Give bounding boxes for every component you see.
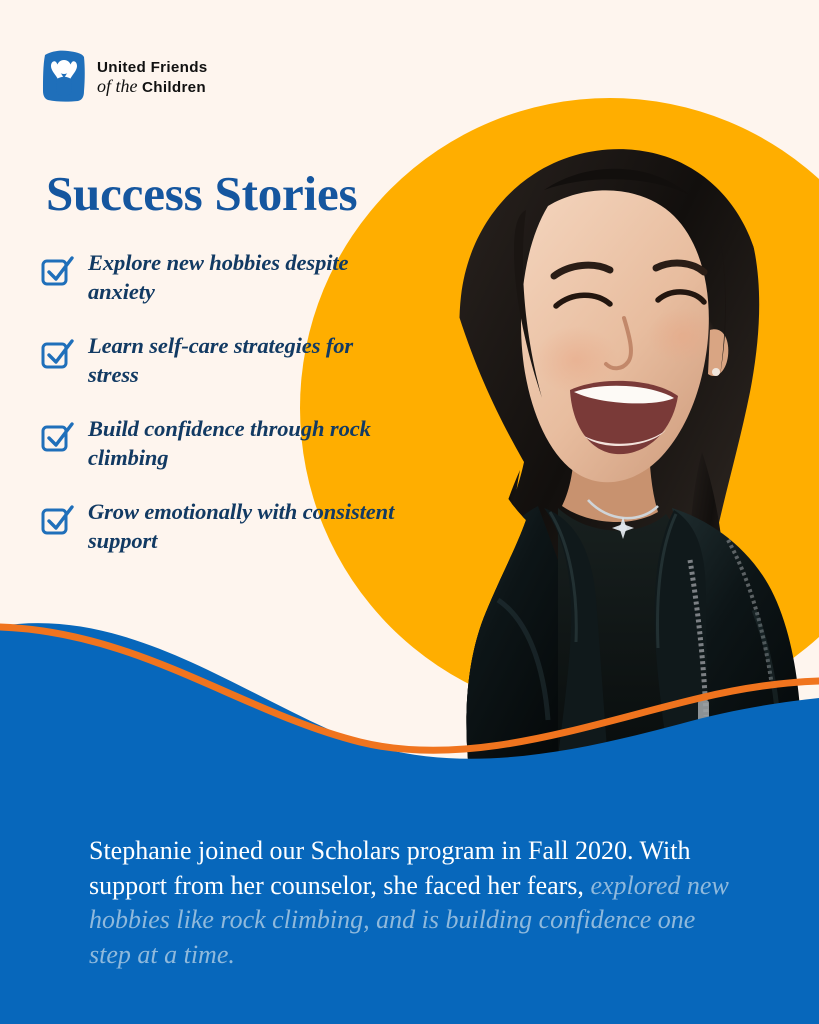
list-item-label: Grow emotionally with consistent support: [88, 498, 400, 555]
list-item: Grow emotionally with consistent support: [40, 498, 400, 555]
story-paragraph: Stephanie joined our Scholars program in…: [89, 834, 739, 972]
logo-wordmark: United Friends of the Children: [97, 56, 208, 97]
logo[interactable]: United Friends of the Children: [42, 49, 208, 103]
success-stories-poster: United Friends of the Children Success S…: [0, 0, 819, 1024]
checklist: Explore new hobbies despite anxiety Lear…: [40, 249, 400, 582]
list-item-label: Explore new hobbies despite anxiety: [88, 249, 400, 306]
list-item-label: Build confidence through rock climbing: [88, 415, 400, 472]
logo-line2-main: Children: [142, 79, 206, 96]
page-title: Success Stories: [46, 165, 357, 222]
checkbox-checked-icon: [40, 254, 74, 288]
logo-line2-prefix: of the: [97, 76, 142, 96]
united-friends-of-the-children-logo-icon: [42, 49, 86, 103]
list-item: Explore new hobbies despite anxiety: [40, 249, 400, 306]
list-item-label: Learn self-care strategies for stress: [88, 332, 400, 389]
list-item: Build confidence through rock climbing: [40, 415, 400, 472]
checkbox-checked-icon: [40, 337, 74, 371]
checkbox-checked-icon: [40, 503, 74, 537]
list-item: Learn self-care strategies for stress: [40, 332, 400, 389]
logo-line1-text: United Friends: [97, 59, 208, 76]
checkbox-checked-icon: [40, 420, 74, 454]
